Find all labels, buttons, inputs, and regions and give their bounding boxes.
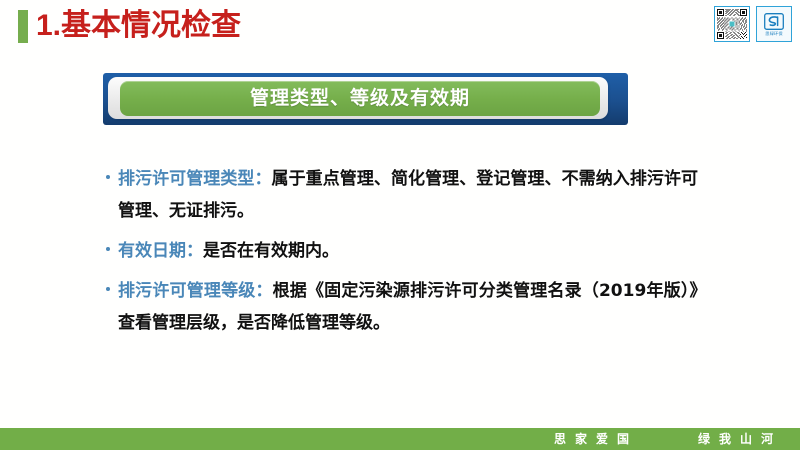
bullet-key-term: 排污许可管理类型：: [118, 169, 272, 189]
slide-header: 1.基本情况检查: [0, 0, 800, 52]
bullet-dot-icon: [106, 163, 118, 179]
list-item: 排污许可管理类型：属于重点管理、简化管理、登记管理、不需纳入排污许可管理、无证排…: [106, 163, 716, 227]
top-right-badges: 思绿环保: [714, 6, 792, 42]
footer-slogan-group: 思家爱国 绿我山河: [554, 428, 782, 450]
qr-code-icon[interactable]: [714, 6, 750, 42]
footer-slogan-left: 思家爱国: [554, 428, 638, 450]
section-banner: 管理类型、等级及有效期: [103, 73, 628, 125]
banner-title: 管理类型、等级及有效期: [250, 88, 470, 110]
list-item: 有效日期：是否在有效期内。: [106, 235, 716, 267]
list-item: 排污许可管理等级：根据《固定污染源排污许可分类管理名录（2019年版）》查看管理…: [106, 275, 716, 339]
bullet-text: 排污许可管理等级：根据《固定污染源排污许可分类管理名录（2019年版）》查看管理…: [118, 275, 698, 339]
bullet-key-term: 排污许可管理等级：: [118, 281, 273, 301]
bullet-dot-icon: [106, 235, 118, 251]
bullet-body-text: 是否在有效期内。: [203, 241, 339, 261]
logo-caption: 思绿环保: [765, 31, 783, 36]
bullet-key-term: 有效日期：: [118, 241, 203, 261]
page-title: 1.基本情况检查: [36, 7, 241, 45]
bullet-text: 排污许可管理类型：属于重点管理、简化管理、登记管理、不需纳入排污许可管理、无证排…: [118, 163, 698, 227]
title-accent-bar: [18, 10, 28, 43]
bullet-dot-icon: [106, 275, 118, 291]
slide-canvas: 1.基本情况检查: [0, 0, 800, 450]
content-bullet-list: 排污许可管理类型：属于重点管理、简化管理、登记管理、不需纳入排污许可管理、无证排…: [106, 163, 716, 347]
qr-code-graphic: [716, 8, 748, 40]
bullet-text: 有效日期：是否在有效期内。: [118, 235, 339, 267]
banner-green-pill: 管理类型、等级及有效期: [120, 81, 600, 116]
company-logo-icon[interactable]: 思绿环保: [756, 6, 792, 42]
logo-mark-graphic: [764, 13, 784, 30]
slide-footer: 思家爱国 绿我山河: [0, 428, 800, 450]
footer-slogan-right: 绿我山河: [698, 428, 782, 450]
